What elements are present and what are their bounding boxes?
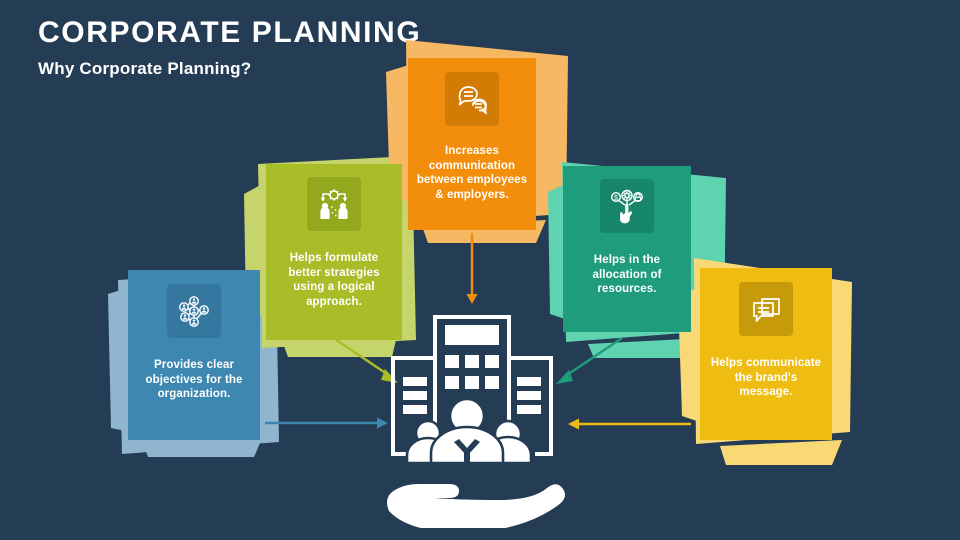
gear-people-icon	[307, 177, 361, 231]
card-objectives-text: Provides clear objectives for the organi…	[138, 358, 250, 402]
arrow-brand-message	[566, 416, 691, 432]
svg-text:$: $	[614, 195, 618, 202]
card-communication-text: Increases communication between employee…	[416, 144, 528, 203]
card-brand-message[interactable]: Helps communicate the brand's message.	[700, 268, 832, 440]
slide-canvas: CORPORATE PLANNING Why Corporate Plannin…	[0, 0, 960, 540]
card-communication[interactable]: Increases communication between employee…	[408, 58, 536, 230]
company-building-team-on-hand-icon	[371, 303, 575, 528]
page-subtitle: Why Corporate Planning?	[38, 59, 251, 79]
card-strategies-text: Helps formulate better strategies using …	[275, 251, 393, 310]
stacked-chat-icon	[739, 282, 793, 336]
page-title: CORPORATE PLANNING	[38, 16, 421, 50]
hand-select-resources-icon: $	[600, 179, 654, 233]
card-allocation-text: Helps in the allocation of resources.	[573, 253, 681, 297]
network-people-icon	[167, 284, 221, 338]
arrow-communication	[464, 233, 480, 305]
card-objectives[interactable]: Provides clear objectives for the organi…	[128, 270, 260, 440]
card-allocation[interactable]: $ Helps in the alloca	[563, 166, 691, 332]
chat-bubbles-icon	[445, 72, 499, 126]
card-brand-message-text: Helps communicate the brand's message.	[708, 356, 824, 400]
